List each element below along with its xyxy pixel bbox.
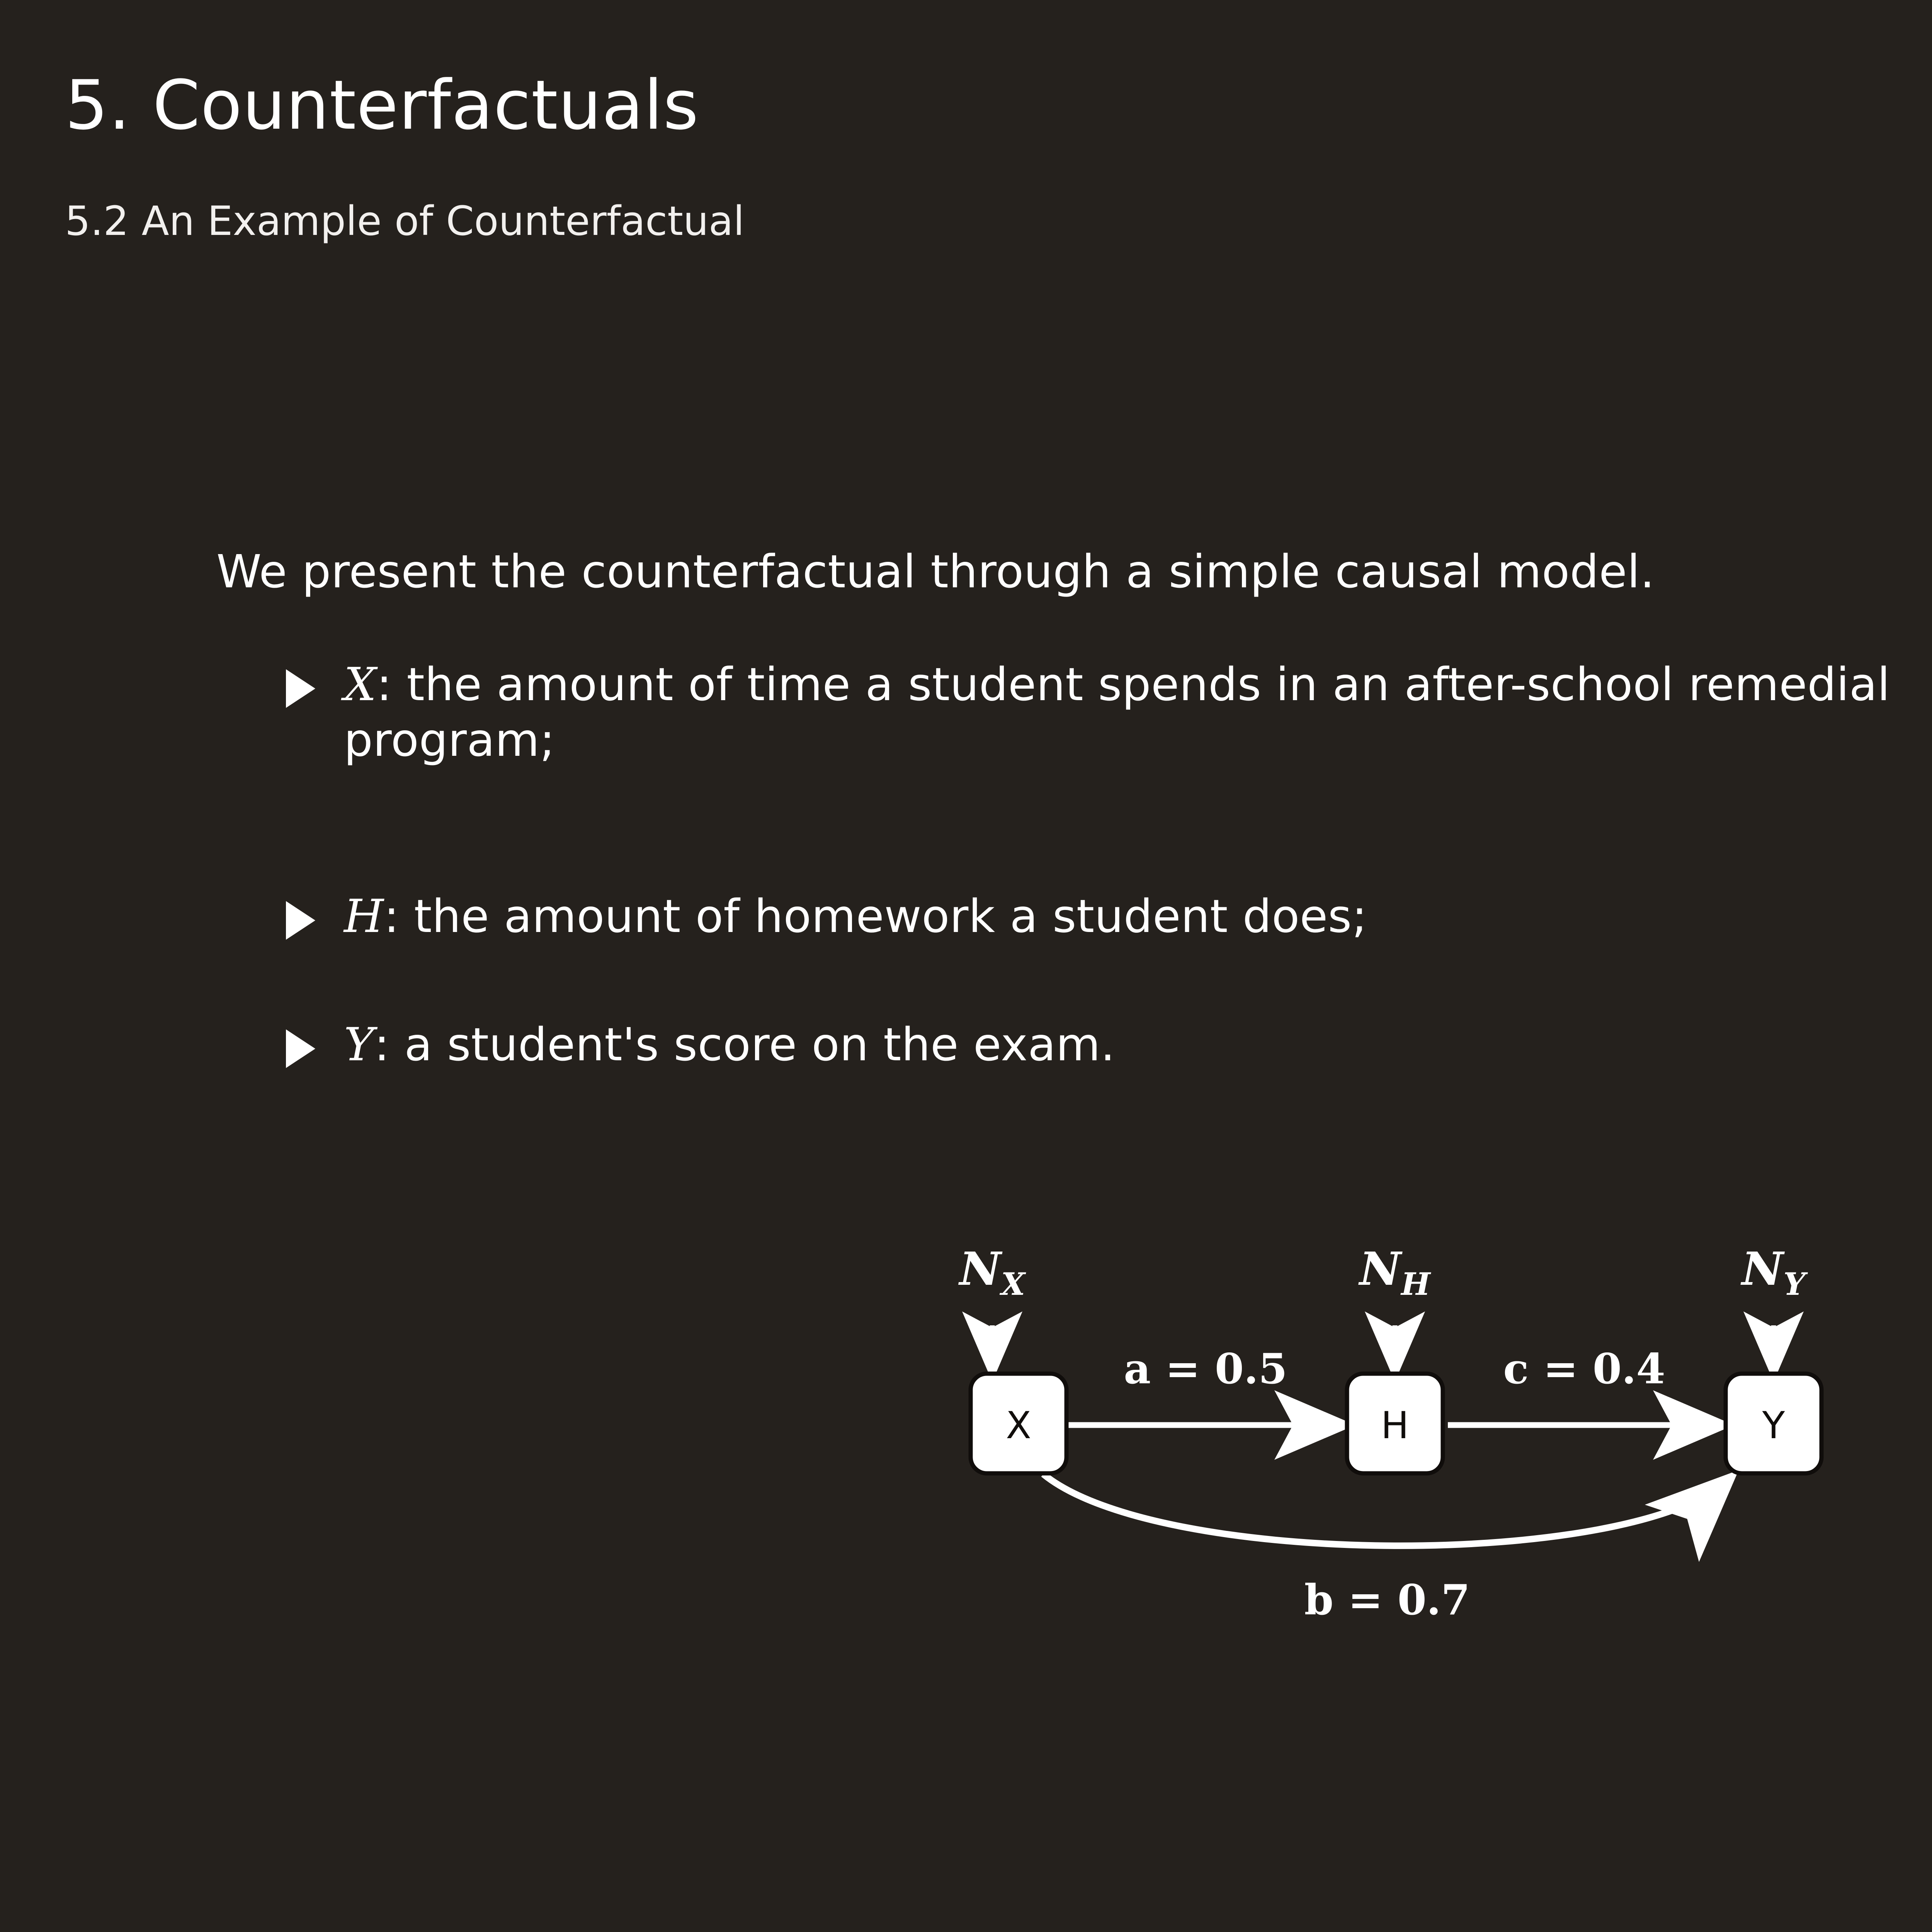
edge-label-b: b = 0.7 [1304, 1576, 1470, 1624]
node-h[interactable]: H [1347, 1374, 1443, 1473]
noise-label-nh: NH [1358, 1242, 1431, 1302]
list-item-text: Y: a student's score on the exam. [344, 1017, 1932, 1073]
causal-diagram: NX NH NY X H Y a = 0.5 c = 0.4 b = 0.7 [889, 1179, 1901, 1642]
list-item: H: the amount of homework a student does… [286, 889, 1932, 944]
list-item: Y: a student's score on the exam. [286, 1017, 1932, 1073]
noise-label-ny: NY [1740, 1242, 1808, 1302]
node-y[interactable]: Y [1726, 1374, 1821, 1473]
list-item-description: : the amount of homework a student does; [384, 889, 1367, 943]
variable-symbol: H [344, 889, 384, 943]
bullet-triangle-icon [286, 669, 315, 708]
list-item-text: H: the amount of homework a student does… [344, 889, 1932, 944]
node-h-label: H [1381, 1404, 1409, 1447]
node-x-label: X [1006, 1404, 1031, 1447]
edge-label-c: c = 0.4 [1503, 1345, 1665, 1393]
node-y-label: Y [1762, 1404, 1785, 1447]
lead-paragraph: We present the counterfactual through a … [216, 549, 1655, 594]
list-item-description: : the amount of time a student spends in… [344, 658, 1890, 767]
variable-symbol: Y [344, 1018, 374, 1071]
noise-label-nx: NX [958, 1242, 1026, 1302]
list-item-description: : a student's score on the exam. [374, 1018, 1115, 1071]
node-x[interactable]: X [971, 1374, 1066, 1473]
page-subtitle: 5.2 An Example of Counterfactual [65, 201, 745, 241]
bullet-triangle-icon [286, 901, 315, 940]
edge-label-a: a = 0.5 [1124, 1345, 1287, 1393]
variable-symbol: X [344, 658, 376, 711]
edge-x-to-y-curved [1043, 1474, 1729, 1546]
bullet-triangle-icon [286, 1029, 315, 1068]
page-title: 5. Counterfactuals [65, 71, 699, 139]
list-item-text: X: the amount of time a student spends i… [344, 657, 1932, 768]
list-item: X: the amount of time a student spends i… [286, 657, 1932, 768]
